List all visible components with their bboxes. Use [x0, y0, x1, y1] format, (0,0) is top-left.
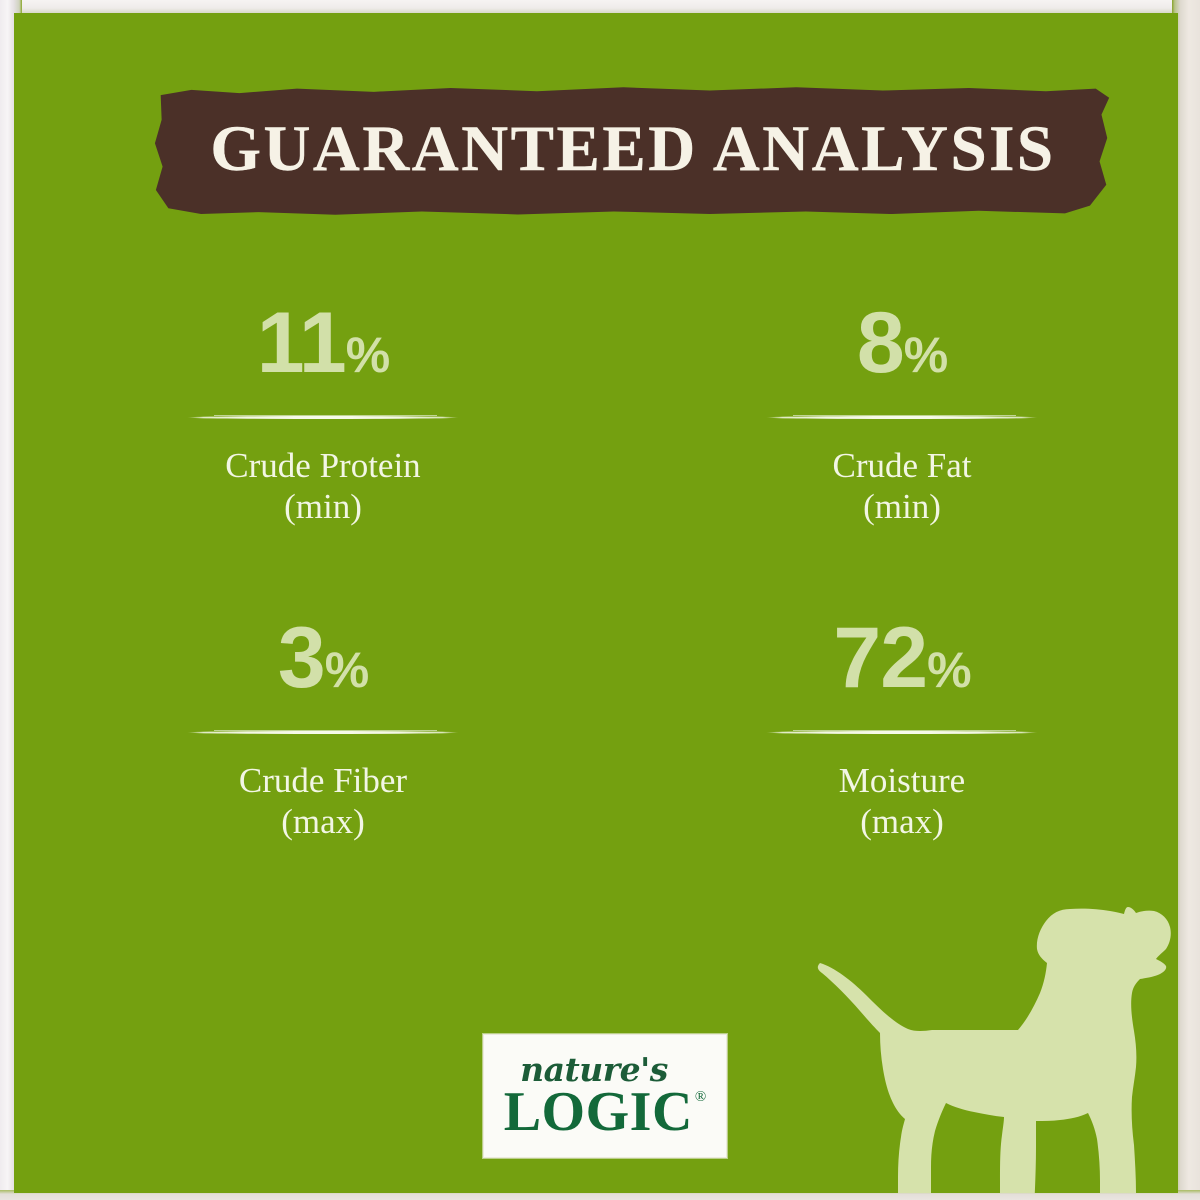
nutrient-label-moisture: Moisture	[839, 760, 965, 801]
percent-sign: %	[904, 330, 947, 380]
nutrient-qualifier-crude-protein: (min)	[284, 486, 362, 527]
percent-sign: %	[927, 645, 970, 695]
percent-sign: %	[346, 330, 389, 380]
dog-silhouette-icon	[804, 881, 1178, 1193]
header-banner: GUARANTEED ANALYSIS	[153, 86, 1113, 216]
divider-rule	[766, 724, 1038, 740]
nutrient-value-moisture: 72%	[833, 605, 970, 701]
brand-wordmark-row: LOGIC ®	[504, 1084, 707, 1140]
nutrient-number: 11	[257, 300, 346, 386]
nutrient-cell-crude-protein: 11% Crude Protein (min)	[14, 290, 596, 605]
nutrient-qualifier-crude-fat: (min)	[863, 486, 941, 527]
nutrient-cell-crude-fiber: 3% Crude Fiber (max)	[14, 605, 596, 920]
guaranteed-analysis-panel: GUARANTEED ANALYSIS 11% Crude Protein (m…	[0, 0, 1200, 1200]
nutrient-cell-crude-fat: 8% Crude Fat (min)	[596, 290, 1178, 605]
divider-rule	[766, 409, 1038, 425]
nutrient-value-crude-fat: 8%	[857, 290, 947, 386]
nutrient-value-crude-fiber: 3%	[278, 605, 368, 701]
percent-sign: %	[325, 645, 368, 695]
nutrient-qualifier-moisture: (max)	[860, 801, 944, 842]
nutrient-qualifier-crude-fiber: (max)	[281, 801, 365, 842]
nutrient-number: 3	[278, 615, 325, 701]
nutrient-number: 8	[857, 300, 904, 386]
brand-logo: nature's LOGIC ®	[483, 1034, 727, 1158]
brand-wordmark: LOGIC	[504, 1084, 693, 1140]
divider-rule	[187, 724, 459, 740]
nutrient-cell-moisture: 72% Moisture (max)	[596, 605, 1178, 920]
nutrient-label-crude-protein: Crude Protein	[225, 445, 420, 486]
registered-trademark-icon: ®	[695, 1090, 706, 1105]
divider-rule	[187, 409, 459, 425]
nutrient-grid: 11% Crude Protein (min) 8% Crude Fat (mi…	[14, 290, 1178, 920]
page-title: GUARANTEED ANALYSIS	[153, 86, 1113, 216]
nutrient-number: 72	[833, 615, 927, 701]
nutrient-label-crude-fat: Crude Fat	[832, 445, 971, 486]
green-canvas: GUARANTEED ANALYSIS 11% Crude Protein (m…	[14, 13, 1178, 1193]
nutrient-value-crude-protein: 11%	[257, 290, 389, 386]
nutrient-label-crude-fiber: Crude Fiber	[239, 760, 407, 801]
